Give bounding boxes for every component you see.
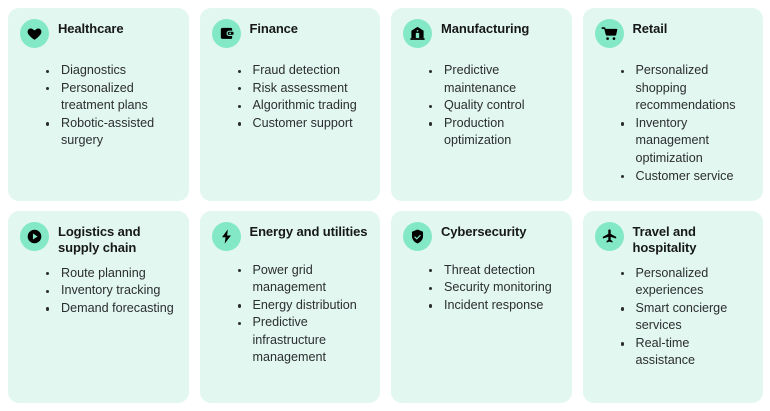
list-item: Inventory tracking: [44, 282, 178, 300]
list-item: Risk assessment: [236, 80, 370, 98]
card-header: Healthcare: [20, 18, 178, 54]
card-bullet-list: Diagnostics Personalized treatment plans…: [20, 62, 178, 150]
shopping-cart-icon: [595, 19, 624, 48]
list-item: Personalized shopping recommendations: [619, 62, 753, 115]
list-item: Production optimization: [427, 115, 561, 150]
card-manufacturing: Manufacturing Predictive maintenance Qua…: [391, 8, 572, 201]
card-bullet-list: Personalized shopping recommendations In…: [595, 62, 753, 185]
card-header: Travel and hospitality: [595, 221, 753, 257]
card-healthcare: Healthcare Diagnostics Personalized trea…: [8, 8, 189, 201]
card-title: Finance: [250, 18, 298, 38]
card-header: Manufacturing: [403, 18, 561, 54]
list-item: Smart concierge services: [619, 300, 753, 335]
card-header: Energy and utilities: [212, 221, 370, 254]
list-item: Incident response: [427, 297, 561, 315]
card-logistics-and-supply-chain: Logistics and supply chain Route plannin…: [8, 211, 189, 404]
card-bullet-list: Threat detection Security monitoring Inc…: [403, 262, 561, 315]
card-bullet-list: Power grid management Energy distributio…: [212, 262, 370, 368]
list-item: Energy distribution: [236, 297, 370, 315]
list-item: Robotic-assisted surgery: [44, 115, 178, 150]
list-item: Customer service: [619, 168, 753, 186]
list-item: Predictive infrastructure management: [236, 314, 370, 367]
card-cybersecurity: Cybersecurity Threat detection Security …: [391, 211, 572, 404]
list-item: Personalized experiences: [619, 265, 753, 300]
factory-icon: [403, 19, 432, 48]
card-retail: Retail Personalized shopping recommendat…: [583, 8, 764, 201]
card-finance: Finance Fraud detection Risk assessment …: [200, 8, 381, 201]
list-item: Power grid management: [236, 262, 370, 297]
wallet-icon: [212, 19, 241, 48]
card-energy-and-utilities: Energy and utilities Power grid manageme…: [200, 211, 381, 404]
list-item: Security monitoring: [427, 279, 561, 297]
play-circle-icon: [20, 222, 49, 251]
list-item: Demand forecasting: [44, 300, 178, 318]
industry-card-grid: Healthcare Diagnostics Personalized trea…: [0, 0, 770, 411]
card-header: Logistics and supply chain: [20, 221, 178, 257]
card-title: Energy and utilities: [250, 221, 368, 241]
list-item: Diagnostics: [44, 62, 178, 80]
list-item: Inventory management optimization: [619, 115, 753, 168]
card-title: Cybersecurity: [441, 221, 526, 241]
heart-icon: [20, 19, 49, 48]
list-item: Algorithmic trading: [236, 97, 370, 115]
card-bullet-list: Fraud detection Risk assessment Algorith…: [212, 62, 370, 132]
list-item: Personalized treatment plans: [44, 80, 178, 115]
card-bullet-list: Route planning Inventory tracking Demand…: [20, 265, 178, 318]
card-title: Manufacturing: [441, 18, 529, 38]
card-title: Healthcare: [58, 18, 123, 38]
shield-check-icon: [403, 222, 432, 251]
card-bullet-list: Predictive maintenance Quality control P…: [403, 62, 561, 150]
card-travel-and-hospitality: Travel and hospitality Personalized expe…: [583, 211, 764, 404]
list-item: Threat detection: [427, 262, 561, 280]
card-title: Logistics and supply chain: [58, 221, 176, 257]
card-header: Retail: [595, 18, 753, 54]
list-item: Customer support: [236, 115, 370, 133]
card-bullet-list: Personalized experiences Smart concierge…: [595, 265, 753, 371]
card-header: Finance: [212, 18, 370, 54]
lightning-bolt-icon: [212, 222, 241, 251]
list-item: Real-time assistance: [619, 335, 753, 370]
airplane-icon: [595, 222, 624, 251]
list-item: Quality control: [427, 97, 561, 115]
card-header: Cybersecurity: [403, 221, 561, 254]
list-item: Predictive maintenance: [427, 62, 561, 97]
card-title: Retail: [633, 18, 668, 38]
list-item: Route planning: [44, 265, 178, 283]
card-title: Travel and hospitality: [633, 221, 751, 257]
list-item: Fraud detection: [236, 62, 370, 80]
